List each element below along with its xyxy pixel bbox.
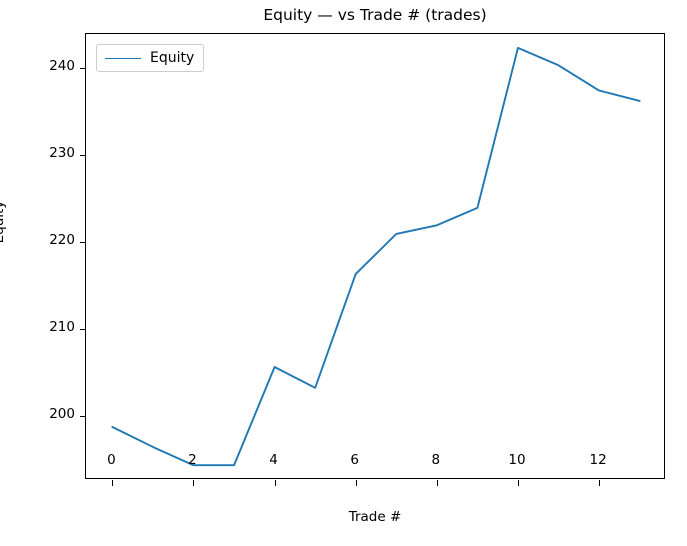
y-tick-label: 230 bbox=[15, 145, 75, 161]
x-tick-label: 8 bbox=[416, 452, 456, 468]
y-tick-mark bbox=[80, 329, 86, 330]
x-tick-mark bbox=[275, 480, 276, 486]
y-tick-mark bbox=[80, 242, 86, 243]
x-tick-label: 12 bbox=[578, 452, 618, 468]
y-tick-label: 220 bbox=[15, 232, 75, 248]
x-tick-mark bbox=[437, 480, 438, 486]
x-tick-label: 2 bbox=[172, 452, 212, 468]
x-tick-mark bbox=[599, 480, 600, 486]
y-tick-label: 210 bbox=[15, 319, 75, 335]
chart-legend: Equity bbox=[96, 44, 204, 72]
chart-figure: Equity — vs Trade # (trades) Equity 2002… bbox=[0, 0, 687, 546]
x-tick-mark bbox=[112, 480, 113, 486]
x-tick-mark bbox=[518, 480, 519, 486]
x-tick-label: 4 bbox=[254, 452, 294, 468]
x-axis-title: Trade # bbox=[85, 509, 665, 525]
x-tick-label: 10 bbox=[497, 452, 537, 468]
chart-title: Equity — vs Trade # (trades) bbox=[85, 6, 665, 24]
y-tick-mark bbox=[80, 155, 86, 156]
x-tick-mark bbox=[193, 480, 194, 486]
equity-line-plot bbox=[86, 34, 666, 480]
x-tick-label: 0 bbox=[91, 452, 131, 468]
y-tick-label: 240 bbox=[15, 58, 75, 74]
legend-label-equity: Equity bbox=[150, 50, 194, 66]
series-line-equity bbox=[112, 48, 639, 465]
y-tick-mark bbox=[80, 68, 86, 69]
y-axis-title: Equity bbox=[0, 162, 7, 282]
x-tick-label: 6 bbox=[335, 452, 375, 468]
x-tick-mark bbox=[356, 480, 357, 486]
y-tick-label: 200 bbox=[15, 406, 75, 422]
plot-axes: Equity bbox=[85, 33, 665, 479]
legend-line-swatch-equity bbox=[105, 58, 141, 59]
y-tick-mark bbox=[80, 416, 86, 417]
